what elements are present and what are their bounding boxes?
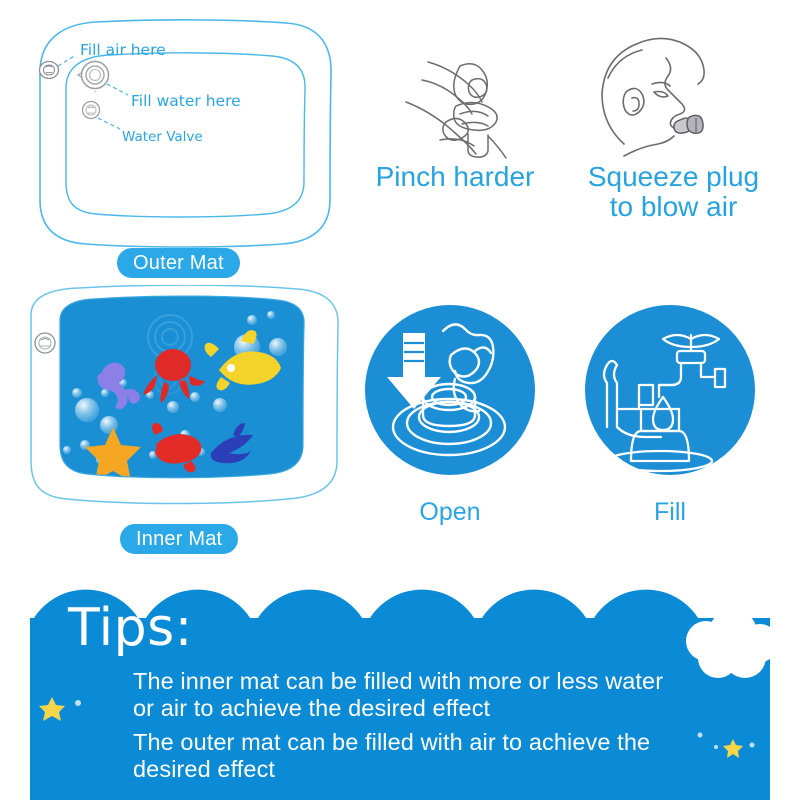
inner-mat-illustration (5, 285, 360, 560)
plug-icon (674, 115, 703, 133)
tip-line-outer-mat: The outer mat can be filled with air to … (133, 729, 733, 783)
callout-water-valve: Water Valve (122, 129, 203, 145)
tips-title: Tips: (68, 598, 193, 658)
outer-mat-illustration: Fill air here Fill water here Water Valv… (0, 0, 360, 290)
fill-faucet-icon (585, 305, 755, 475)
open-step-caption: Open (365, 498, 535, 527)
pinch-harder-caption: Pinch harder (355, 162, 555, 192)
inner-mat-label-pill: Inner Mat (120, 524, 238, 554)
inner-mat-panel (5, 285, 360, 560)
tip-line-inner-mat: The inner mat can be filled with more or… (133, 668, 733, 722)
fill-step-caption: Fill (585, 498, 755, 527)
callout-fill-air-here: Fill air here (80, 41, 166, 59)
head-blowing-illustration (600, 36, 740, 164)
inner-mat-water (45, 290, 325, 490)
outer-mat-label-pill: Outer Mat (117, 248, 240, 278)
squeeze-plug-caption: Squeeze plug to blow air (566, 162, 781, 222)
open-step-badge (365, 305, 535, 475)
callout-fill-water-here: Fill water here (131, 92, 241, 110)
inner-mat-valve-icon (35, 333, 55, 353)
fill-step-badge (585, 305, 755, 475)
pinch-hand-illustration (400, 40, 540, 165)
open-valve-icon (365, 305, 535, 475)
water-valve-icon (83, 102, 100, 119)
outer-mat-panel: Fill air here Fill water here Water Valv… (0, 0, 360, 290)
air-valve-icon (40, 62, 59, 79)
